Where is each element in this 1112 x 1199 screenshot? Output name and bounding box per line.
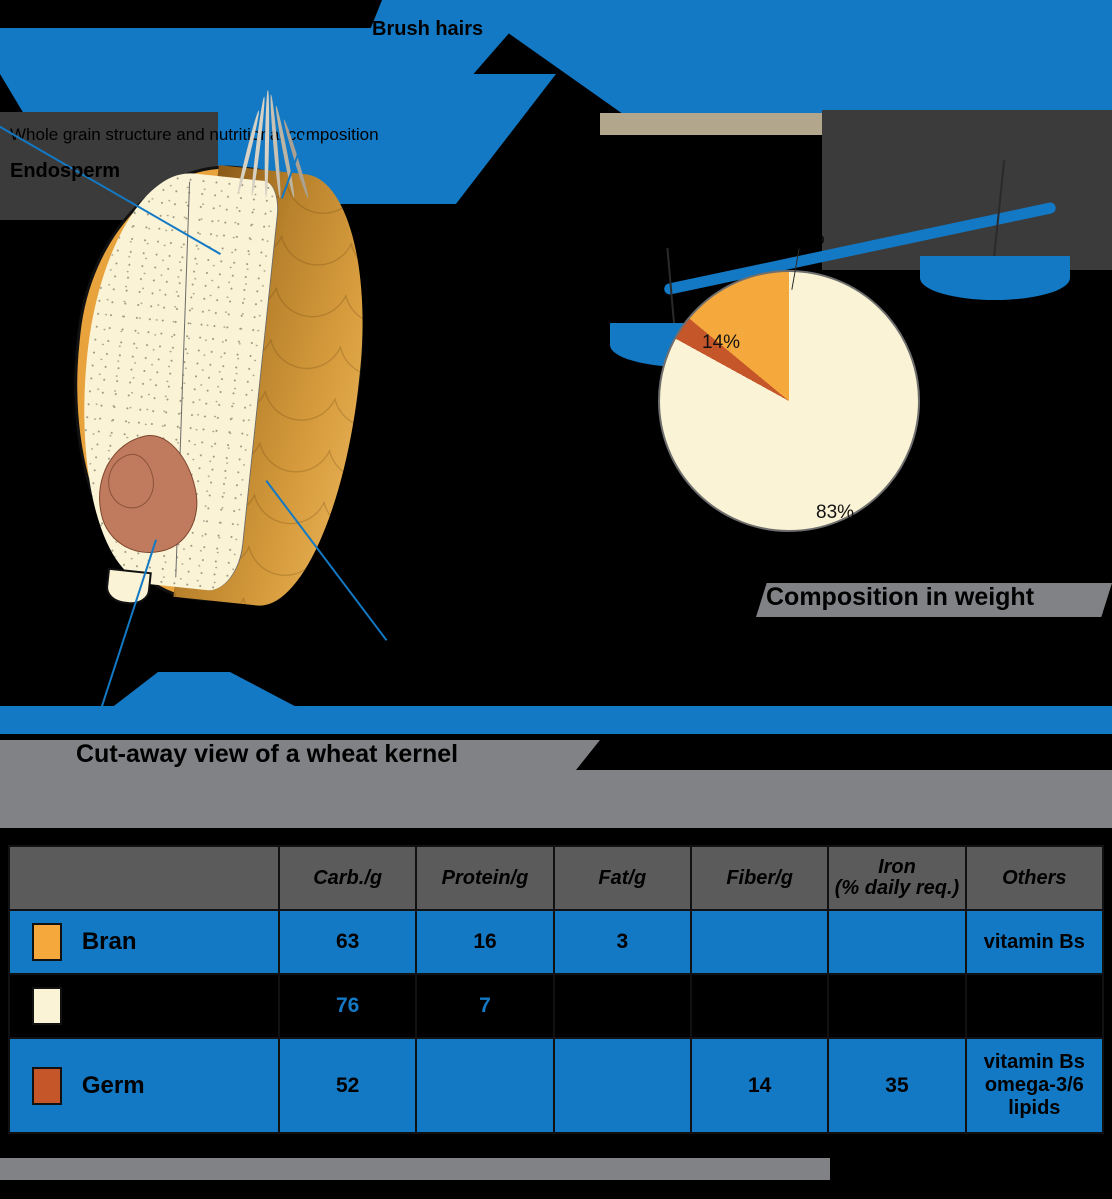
wheat-grain-cutaway (55, 140, 385, 620)
row-name-text: Endosperm (82, 992, 214, 1019)
footer-band (0, 1158, 830, 1180)
cell-bran-carb: 63 (279, 910, 416, 974)
cell-bran-protein: 16 (416, 910, 553, 974)
iron-header-line1: Iron (878, 856, 916, 878)
row-name-text: Germ (82, 1072, 145, 1099)
diagram-caption: Cut-away view of a wheat kernel (76, 740, 458, 769)
table-intro-band (0, 770, 1112, 828)
balance-pan-right (920, 256, 1070, 300)
diagram-caption-tab (106, 672, 306, 712)
cell-endosperm-fiber (691, 974, 828, 1038)
germ-detail (103, 450, 159, 512)
callout-label-brush: Brush hairs (372, 18, 483, 41)
cell-bran-iron (828, 910, 965, 974)
callout-label-bran: Bran (388, 676, 434, 699)
col-header-part (9, 846, 279, 910)
cell-endosperm-others (966, 974, 1103, 1038)
germ-others-line2: omega-3/6 lipids (985, 1074, 1084, 1119)
nutrition-table: Carb./g Protein/g Fat/g Fiber/g Iron (% … (8, 845, 1104, 1134)
germ-others-line1: vitamin Bs (984, 1051, 1085, 1073)
swatch-bran (32, 923, 62, 961)
cell-endosperm-protein: 7 (416, 974, 553, 1038)
pie-caption: Composition in weight (766, 583, 1034, 612)
cell-germ-carb: 52 (279, 1038, 416, 1133)
row-name-text: Bran (82, 928, 137, 955)
grain-outer-shell (51, 151, 381, 615)
cell-germ-fat (554, 1038, 691, 1133)
cell-germ-protein (416, 1038, 553, 1133)
brush-hairs (230, 88, 350, 198)
col-header-iron: Iron (% daily req.) (828, 846, 965, 910)
cell-endosperm-iron (828, 974, 965, 1038)
row-label-endosperm: Endosperm (9, 974, 279, 1038)
table-row: Germ 52 14 35 vitamin Bs omega-3/6 lipid… (9, 1038, 1103, 1133)
table-header-row: Carb./g Protein/g Fat/g Fiber/g Iron (% … (9, 846, 1103, 910)
cell-bran-fat: 3 (554, 910, 691, 974)
composition-pie-chart: 14% 83% (658, 270, 920, 532)
cell-endosperm-carb: 76 (279, 974, 416, 1038)
row-label-bran: Bran (9, 910, 279, 974)
col-header-others: Others (966, 846, 1103, 910)
swatch-endosperm (32, 987, 62, 1025)
nutrition-table-element: Carb./g Protein/g Fat/g Fiber/g Iron (% … (8, 845, 1104, 1134)
iron-header-line2: (% daily req.) (835, 877, 959, 899)
cell-germ-iron: 35 (828, 1038, 965, 1133)
pie-label-bran: 14% (702, 332, 740, 354)
col-header-fiber: Fiber/g (691, 846, 828, 910)
table-row: Endosperm 76 7 (9, 974, 1103, 1038)
pie-label-germ: 3% (797, 228, 824, 250)
table-row: Bran 63 16 3 vitamin Bs (9, 910, 1103, 974)
balance-string-right (993, 160, 1005, 260)
pie-slices (658, 270, 920, 532)
pie-label-endosperm: 83% (816, 502, 854, 524)
callout-label-endosperm: Endosperm (10, 160, 120, 183)
col-header-protein: Protein/g (416, 846, 553, 910)
col-header-fat: Fat/g (554, 846, 691, 910)
cell-endosperm-fat (554, 974, 691, 1038)
row-label-germ: Germ (9, 1038, 279, 1133)
cell-bran-others: vitamin Bs (966, 910, 1103, 974)
cell-germ-fiber: 14 (691, 1038, 828, 1133)
cell-germ-others: vitamin Bs omega-3/6 lipids (966, 1038, 1103, 1133)
cell-bran-fiber (691, 910, 828, 974)
col-header-carb: Carb./g (279, 846, 416, 910)
swatch-germ (32, 1067, 62, 1105)
